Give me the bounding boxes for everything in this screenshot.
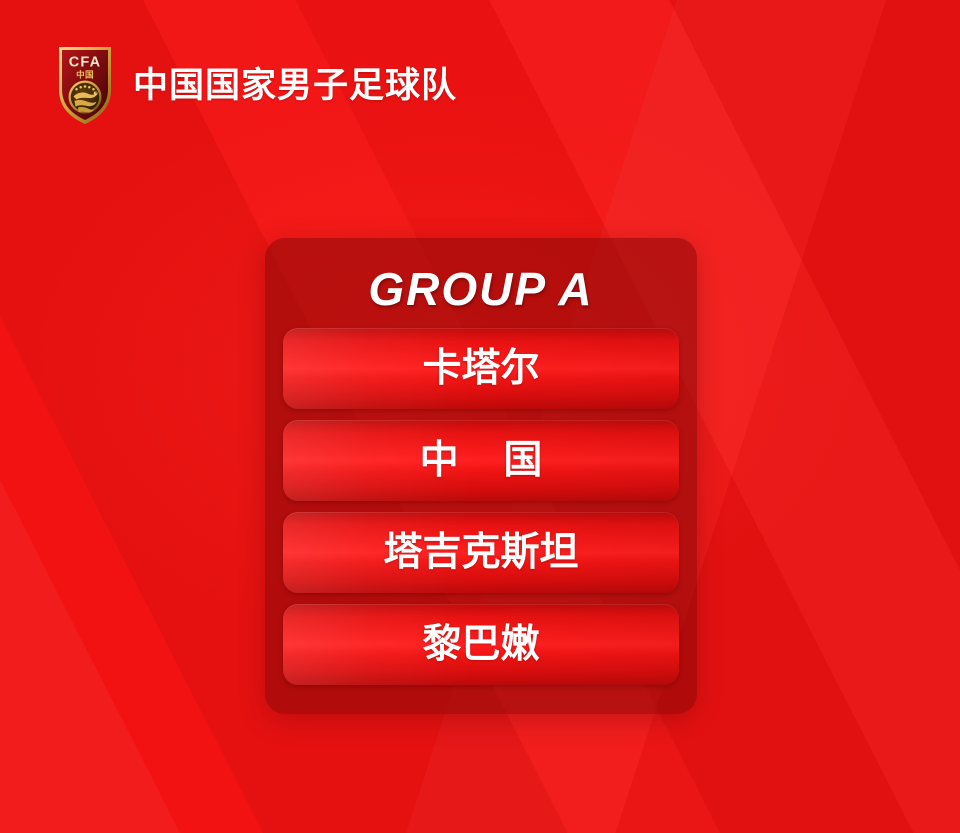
page-title: 中国国家男子足球队: [133, 68, 457, 103]
team-name: 黎巴嫩: [422, 625, 539, 664]
svg-text:中国: 中国: [76, 70, 94, 80]
group-title: GROUP A: [283, 252, 679, 326]
team-name: 卡塔尔: [422, 349, 539, 388]
header: CFA 中国: [57, 44, 457, 126]
team-row[interactable]: 黎巴嫩: [283, 604, 679, 685]
cfa-crest-icon: CFA 中国: [57, 44, 113, 126]
team-name: 塔吉克斯坦: [383, 533, 578, 572]
poster-canvas: CFA 中国: [0, 0, 960, 833]
svg-text:CFA: CFA: [69, 55, 102, 71]
team-row[interactable]: 卡塔尔: [283, 328, 679, 409]
team-list: 卡塔尔 中 国 塔吉克斯坦 黎巴嫩: [283, 326, 679, 696]
group-card: GROUP A 卡塔尔 中 国 塔吉克斯坦 黎巴嫩: [265, 238, 697, 714]
team-row[interactable]: 塔吉克斯坦: [283, 512, 679, 593]
team-name: 中 国: [403, 441, 560, 480]
team-row[interactable]: 中 国: [283, 420, 679, 501]
